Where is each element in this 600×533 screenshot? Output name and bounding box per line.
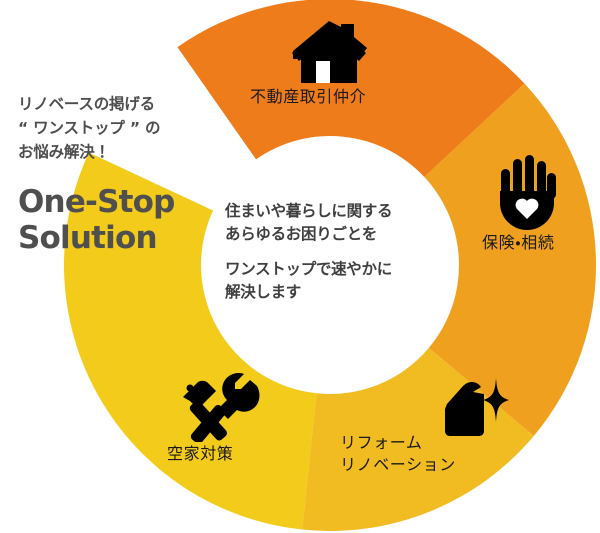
center-para2-line1: ワンストップで速やかに [225,258,455,281]
house-sparkle-icon [437,376,509,438]
segment-label-line: 保険・相続 [482,232,554,254]
lead-line-3: お悩み解決！ [18,140,233,164]
lead-line-2: “ ワンストップ ” の [18,116,233,140]
house-icon [291,21,367,83]
headline-line-1: One-Stop [18,184,233,220]
hammer-wrench-icon [178,372,260,442]
center-para1-line2: あらゆるお困りごとを [225,223,455,246]
paragraph-spacer [225,247,455,258]
center-para1-line1: 住まいや暮らしに関する [225,200,455,223]
page-title: One-Stop Solution [18,184,233,257]
lead-line-1: リノベースの掲げる [18,92,233,116]
hand-heart-icon [497,155,557,231]
segment-label-insurance[interactable]: 保険・相続 [482,232,554,254]
segment-label-real-estate[interactable]: 不動産取引仲介 [250,86,366,108]
segment-label-line: 空家対策 [167,443,233,465]
segment-label-vacant-house[interactable]: 空家対策 [167,443,233,465]
left-copy-block: リノベースの掲げる “ ワンストップ ” の お悩み解決！ One-Stop S… [18,92,233,257]
segment-label-line: 不動産取引仲介 [250,86,366,108]
infographic-stage: リノベースの掲げる “ ワンストップ ” の お悩み解決！ One-Stop S… [0,0,600,533]
segment-label-line: リノベーション [340,454,456,476]
headline-line-2: Solution [18,220,233,256]
segment-label-reform[interactable]: リフォーム リノベーション [340,432,456,475]
center-copy-block: 住まいや暮らしに関する あらゆるお困りごとを ワンストップで速やかに 解決します [225,200,455,304]
center-para2-line2: 解決します [225,281,455,304]
